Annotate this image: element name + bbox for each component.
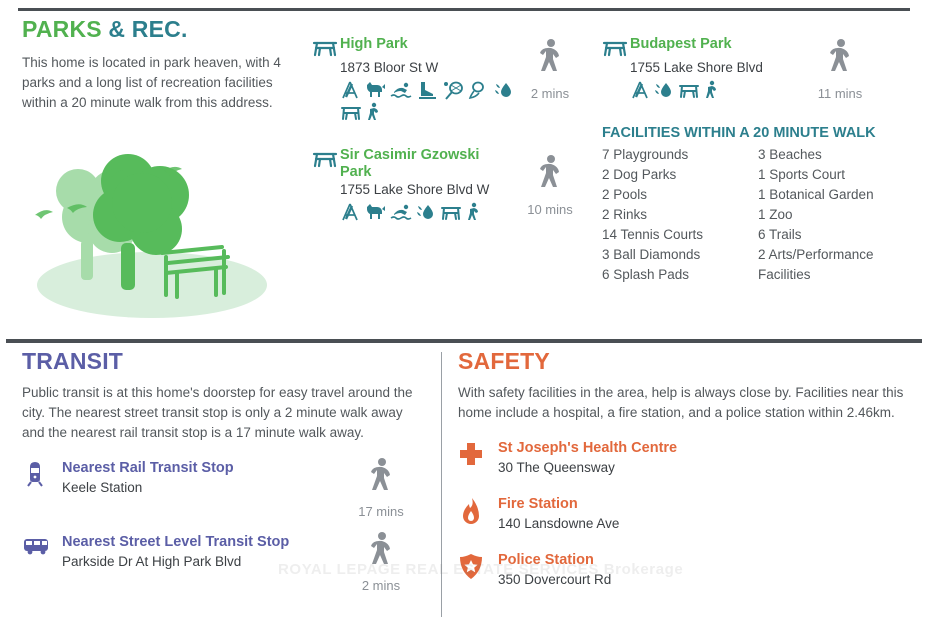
pool-icon: [390, 202, 412, 222]
picnic-table-icon: [312, 37, 340, 59]
park-head: Sir Casimir Gzowski Park: [312, 147, 517, 181]
park-card-budapest[interactable]: Budapest Park 1755 Lake Shore Blvd: [602, 36, 812, 100]
safety-place-row-hospital[interactable]: St Joseph's Health Centre 30 The Queensw…: [458, 439, 908, 483]
facility-item: 6 Splash Pads: [602, 265, 758, 285]
facility-item: 2 Rinks: [602, 205, 758, 225]
parks-description: This home is located in park heaven, wit…: [22, 53, 292, 113]
top-divider: [18, 8, 910, 11]
parks-intro-block: PARKS & REC. This home is located in par…: [22, 16, 292, 113]
bus-icon: [22, 535, 52, 561]
police-badge-icon: [458, 553, 488, 579]
splash-pad-icon: [654, 80, 674, 100]
transit-stop-row-rail[interactable]: Nearest Rail Transit Stop Keele Station …: [22, 459, 427, 505]
safety-description: With safety facilities in the area, help…: [458, 383, 908, 423]
pool-icon: [390, 80, 412, 100]
park-card-high-park[interactable]: High Park 1873 Bloor St W: [312, 36, 512, 122]
safety-place-name: Police Station: [498, 551, 908, 570]
ball-diamond-icon: [468, 80, 490, 100]
park-amenity-icons: [340, 202, 520, 222]
playground-icon: [340, 202, 360, 222]
park-head: Budapest Park: [602, 36, 812, 59]
facility-item: 7 Playgrounds: [602, 145, 758, 165]
park-address: 1755 Lake Shore Blvd: [630, 59, 812, 77]
playground-icon: [340, 80, 360, 100]
park-address: 1873 Bloor St W: [340, 59, 512, 77]
safety-place-row-police[interactable]: Police Station 350 Dovercourt Rd: [458, 551, 908, 595]
walk-time-label: 11 mins: [812, 86, 868, 101]
facilities-column-left: 7 Playgrounds 2 Dog Parks 2 Pools 2 Rink…: [602, 145, 758, 285]
park-illustration: [20, 145, 290, 325]
walking-person-icon: [825, 38, 855, 80]
picnic-table-icon: [312, 148, 340, 170]
medical-cross-icon: [458, 441, 488, 467]
vertical-divider: [441, 352, 442, 617]
facility-item: 1 Sports Court: [758, 165, 914, 185]
rink-icon: [416, 80, 438, 100]
facility-item: Facilities: [758, 265, 914, 285]
transit-walk-time-rail: 17 mins: [353, 457, 409, 519]
safety-place-row-fire[interactable]: Fire Station 140 Lansdowne Ave: [458, 495, 908, 539]
parks-title-secondary: & REC.: [108, 16, 187, 42]
walking-person-icon: [366, 457, 396, 499]
walk-time-label: 2 mins: [353, 578, 409, 593]
walk-time-label: 10 mins: [522, 202, 578, 217]
walking-person-icon: [535, 38, 565, 80]
playground-icon: [630, 80, 650, 100]
walk-time-high-park: 2 mins: [522, 38, 578, 101]
walk-time-gzowski: 10 mins: [522, 154, 578, 217]
walk-time-label: 17 mins: [353, 504, 409, 519]
facility-item: 6 Trails: [758, 225, 914, 245]
facility-item: 1 Zoo: [758, 205, 914, 225]
walk-time-budapest: 11 mins: [812, 38, 868, 101]
safety-place-address: 140 Lansdowne Ave: [498, 514, 908, 533]
flame-icon: [458, 497, 488, 523]
walk-time-label: 2 mins: [522, 86, 578, 101]
picnic-table-icon: [602, 37, 630, 59]
safety-section-title: SAFETY: [458, 348, 908, 375]
facility-item: 3 Beaches: [758, 145, 914, 165]
transit-description: Public transit is at this home's doorste…: [22, 383, 427, 443]
walking-person-icon: [366, 531, 396, 573]
safety-place-name: Fire Station: [498, 495, 908, 514]
transit-stop-row-street[interactable]: Nearest Street Level Transit Stop Parksi…: [22, 533, 427, 579]
train-icon: [22, 461, 52, 487]
facility-item: 3 Ball Diamonds: [602, 245, 758, 265]
walking-person-icon: [535, 154, 565, 196]
facility-item: 2 Arts/Performance: [758, 245, 914, 265]
safety-section: SAFETY With safety facilities in the are…: [458, 348, 908, 595]
park-head: High Park: [312, 36, 512, 59]
facilities-block: FACILITIES WITHIN A 20 MINUTE WALK 7 Pla…: [602, 124, 914, 285]
facility-item: 1 Botanical Garden: [758, 185, 914, 205]
facilities-columns: 7 Playgrounds 2 Dog Parks 2 Pools 2 Rink…: [602, 145, 914, 285]
parks-section-title: PARKS & REC.: [22, 16, 292, 43]
transit-section: TRANSIT Public transit is at this home's…: [22, 348, 427, 579]
facility-item: 14 Tennis Courts: [602, 225, 758, 245]
sports-figure-icon: [466, 202, 482, 222]
facility-item: 2 Pools: [602, 185, 758, 205]
parks-title-primary: PARKS: [22, 16, 102, 42]
splash-pad-icon: [494, 80, 514, 100]
sports-figure-icon: [366, 102, 382, 122]
park-card-gzowski[interactable]: Sir Casimir Gzowski Park 1755 Lake Shore…: [312, 147, 517, 222]
facility-item: 2 Dog Parks: [602, 165, 758, 185]
transit-section-title: TRANSIT: [22, 348, 427, 375]
park-amenity-icons: [340, 80, 520, 122]
dog-park-icon: [364, 202, 386, 222]
park-name: Sir Casimir Gzowski Park: [340, 147, 495, 181]
picnic-table-icon: [440, 202, 462, 222]
splash-pad-icon: [416, 202, 436, 222]
park-amenity-icons: [630, 80, 810, 100]
sports-figure-icon: [704, 80, 720, 100]
tennis-icon: [442, 80, 464, 100]
safety-place-name: St Joseph's Health Centre: [498, 439, 908, 458]
park-address: 1755 Lake Shore Blvd W: [340, 181, 517, 199]
facilities-column-right: 3 Beaches 1 Sports Court 1 Botanical Gar…: [758, 145, 914, 285]
transit-walk-time-street: 2 mins: [353, 531, 409, 593]
section-divider: [6, 339, 922, 343]
park-name: Budapest Park: [630, 36, 785, 53]
park-name: High Park: [340, 36, 495, 53]
picnic-table-icon: [340, 102, 362, 122]
safety-place-address: 30 The Queensway: [498, 458, 908, 477]
property-report-page: PARKS & REC. This home is located in par…: [0, 0, 927, 628]
dog-park-icon: [364, 80, 386, 100]
park-scene-graphic: [20, 145, 290, 325]
picnic-table-icon: [678, 80, 700, 100]
safety-place-address: 350 Dovercourt Rd: [498, 570, 908, 589]
facilities-title: FACILITIES WITHIN A 20 MINUTE WALK: [602, 124, 914, 143]
